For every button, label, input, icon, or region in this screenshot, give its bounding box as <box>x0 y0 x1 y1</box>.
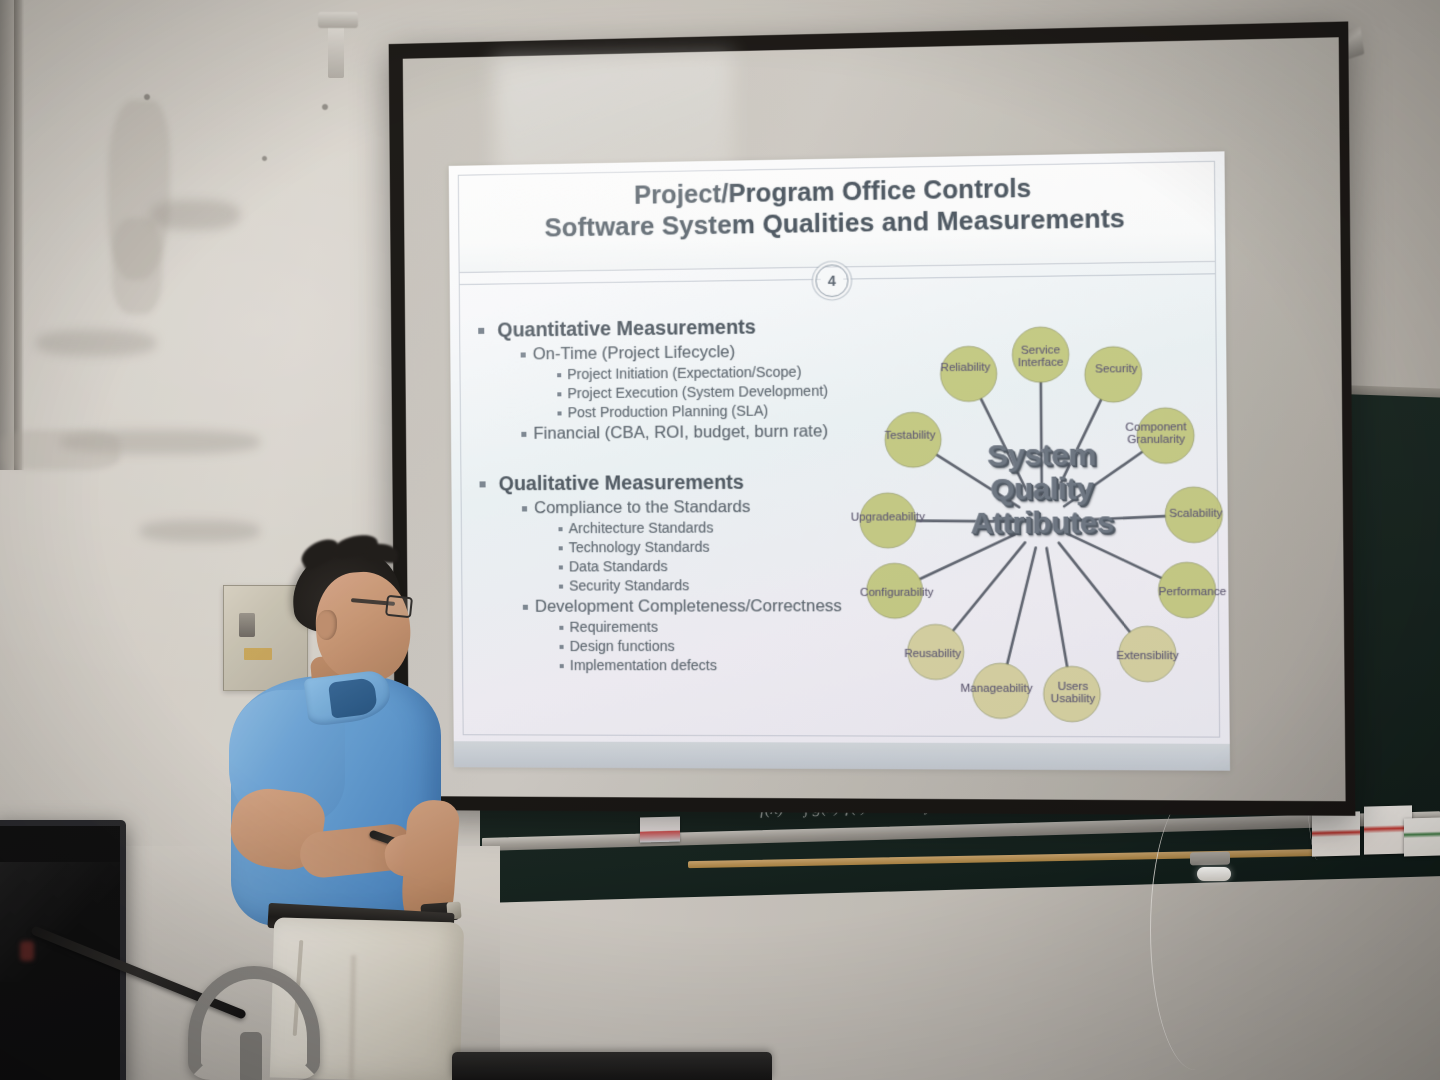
wall-corner-shadow <box>14 0 24 470</box>
diagram-node-circle <box>1165 487 1223 543</box>
diagram-spoke <box>1006 548 1037 664</box>
bullet-subitem: Design functions <box>479 637 887 656</box>
diagram-node-circle <box>1043 666 1100 722</box>
bullet-item: Compliance to the Standards <box>478 495 886 520</box>
slide-page-number: 4 <box>815 264 848 297</box>
wall-patch <box>112 218 162 314</box>
diagram-spoke <box>1064 452 1143 506</box>
bullet-subitem: Requirements <box>479 617 887 637</box>
diagram-spoke <box>981 398 1030 498</box>
blackboard-eraser <box>640 816 680 842</box>
diagram-node-circle <box>1085 346 1142 402</box>
bullet-subitem: Data Standards <box>478 556 886 577</box>
wall-scuff <box>150 200 240 230</box>
diagram-spoke <box>952 543 1025 631</box>
chair-stem <box>240 1032 262 1080</box>
bullet-subitem: Architecture Standards <box>478 517 886 538</box>
diagram-node-circle <box>885 412 942 468</box>
bullet-spacer <box>477 442 885 471</box>
diagram-spoke <box>1047 548 1068 667</box>
bullet-item: Financial (CBA, ROI, budget, burn rate) <box>477 420 885 446</box>
chalk-box-green[interactable] <box>1404 817 1440 856</box>
bullet-item: Development Completeness/Correctness <box>479 595 887 618</box>
diagram-node-circle <box>860 493 916 548</box>
slide-footer-band <box>454 741 1230 770</box>
podium-monitor[interactable] <box>0 820 126 1080</box>
presenter-ear <box>316 610 337 640</box>
diagram-node-circle <box>1012 327 1069 383</box>
monitor-reflection <box>20 941 34 961</box>
screen-mount-rod <box>328 20 344 78</box>
wall-scuff <box>140 520 260 542</box>
panel-latch-icon <box>239 613 255 637</box>
wall-speck <box>262 156 267 161</box>
wall-speck <box>322 104 328 110</box>
diagram-node-circle <box>940 346 997 402</box>
diagram-svg <box>857 311 1230 745</box>
diagram-node-circle <box>1119 626 1177 682</box>
panel-warning-label <box>244 648 272 660</box>
bullet-subitem: Security Standards <box>478 576 886 596</box>
screen-surface: Project/Program Office Controls Software… <box>403 37 1346 801</box>
wall-scuff <box>36 330 156 356</box>
slide-title: Project/Program Office Controls Software… <box>449 170 1225 246</box>
bullet-subitem: Technology Standards <box>478 537 886 558</box>
power-cable <box>1150 790 1241 1070</box>
diagram-spoke <box>916 520 1015 522</box>
system-quality-attributes-diagram: System Quality Attributes ServiceInterfa… <box>857 311 1230 745</box>
projection-screen: Project/Program Office Controls Software… <box>389 21 1356 815</box>
diagram-node-circle <box>1158 562 1216 618</box>
chair[interactable] <box>188 966 320 1080</box>
diagram-node-circle <box>972 663 1029 718</box>
wall-speck <box>144 94 150 100</box>
diagram-spoke <box>937 454 1020 508</box>
diagram-spoke <box>1059 543 1130 632</box>
lecture-room-photo: f(x) = ∫ g(x) γ(t) ~ x² + x∫ Project/Pro… <box>0 0 1440 1080</box>
diagram-spoke <box>919 533 1017 579</box>
slide-divider-left <box>460 279 821 285</box>
diagram-node-circle <box>866 563 922 618</box>
slide-divider-right <box>843 273 1215 279</box>
screen-mount-bracket <box>318 12 358 28</box>
wall-patch <box>0 430 120 470</box>
diagram-spoke <box>1053 400 1102 498</box>
desk-edge <box>452 1052 772 1080</box>
slide-bullet-list: Quantitative Measurements On-Time (Proje… <box>476 313 887 676</box>
bullet-heading: Qualitative Measurements <box>477 469 885 498</box>
diagram-spoke <box>1069 516 1165 520</box>
diagram-node-circle <box>907 624 964 679</box>
diagram-node-circle <box>1137 408 1195 464</box>
presentation-slide: Project/Program Office Controls Software… <box>449 151 1230 770</box>
glasses-icon <box>385 595 413 619</box>
monitor-screen-glare <box>0 862 120 982</box>
bullet-subitem: Implementation defects <box>479 656 887 675</box>
diagram-spoke <box>1041 382 1042 495</box>
